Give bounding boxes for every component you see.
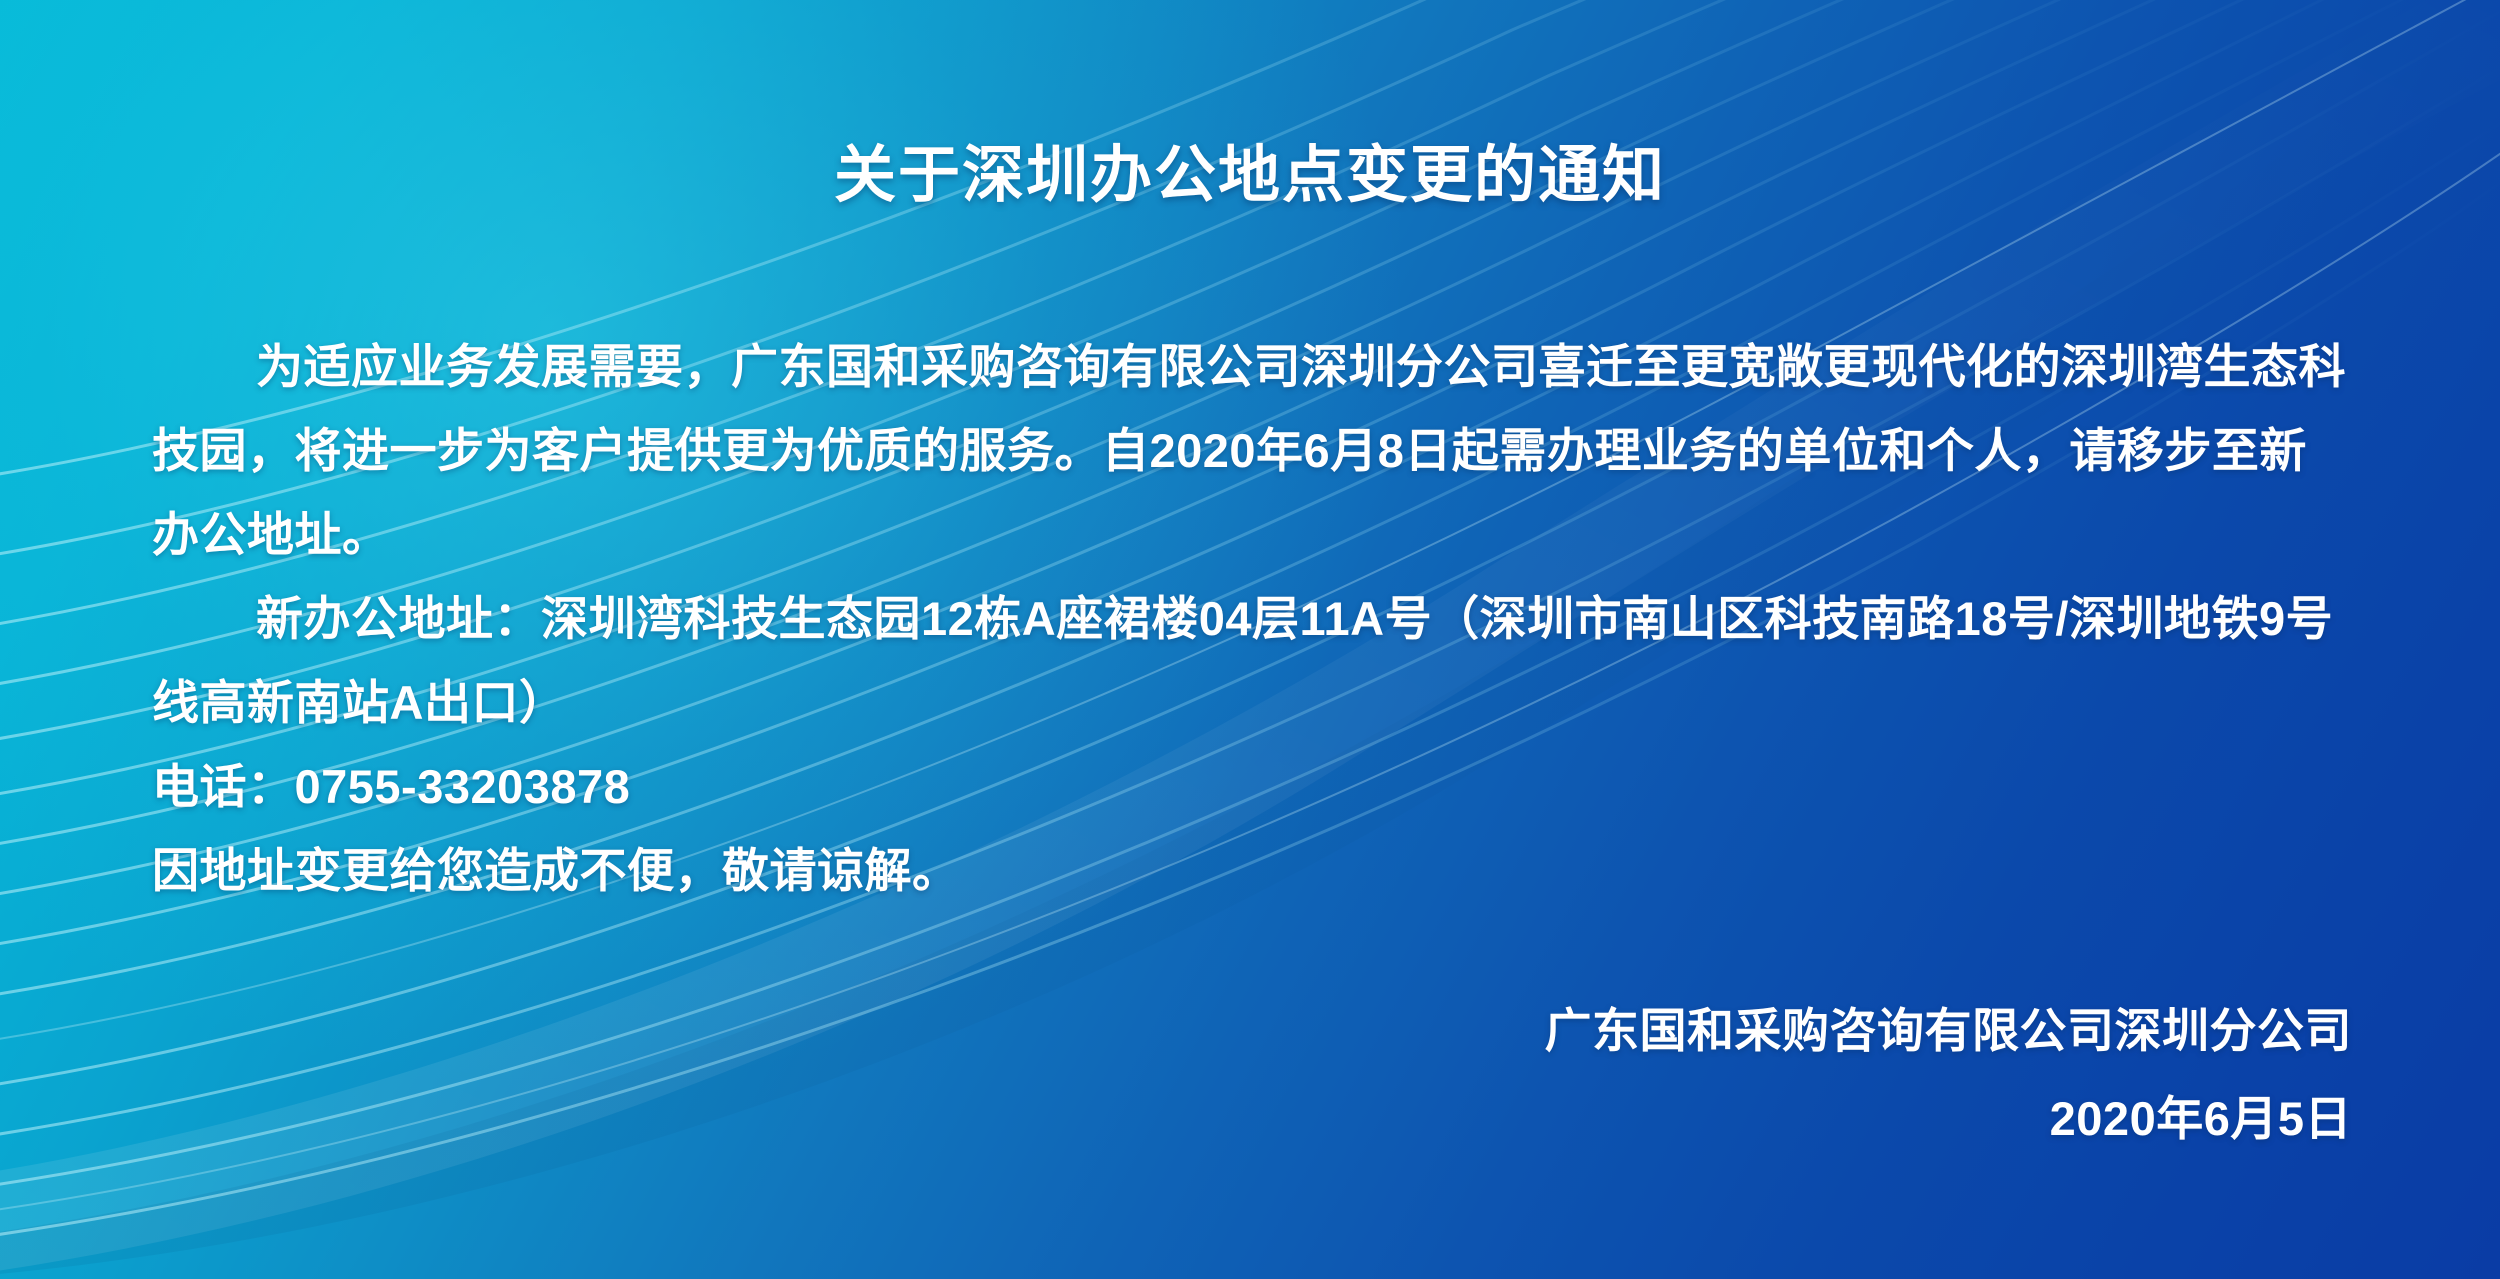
signature-organization: 广东国和采购咨询有限公司深圳分公司	[1545, 987, 2353, 1075]
paragraph-intro: 为适应业务发展需要，广东国和采购咨询有限公司深圳分公司喜迁至更宽敞更现代化的深圳…	[152, 325, 2352, 577]
notice-body: 为适应业务发展需要，广东国和采购咨询有限公司深圳分公司喜迁至更宽敞更现代化的深圳…	[152, 325, 2352, 913]
paragraph-new-address: 新办公地址：深圳湾科技生态园12栋A座裙楼04层11A号（深圳市南山区科技南路1…	[152, 577, 2352, 745]
paragraph-apology: 因地址变更给您造成不便，敬请谅解。	[152, 829, 2352, 913]
paragraph-phone: 电话：0755-33203878	[152, 745, 2352, 829]
notice-banner: 关于深圳办公地点变更的通知 为适应业务发展需要，广东国和采购咨询有限公司深圳分公…	[0, 0, 2500, 1279]
page-title: 关于深圳办公地点变更的通知	[0, 124, 2500, 214]
notice-content: 关于深圳办公地点变更的通知 为适应业务发展需要，广东国和采购咨询有限公司深圳分公…	[0, 0, 2500, 1279]
signature-block: 广东国和采购咨询有限公司深圳分公司 2020年6月5日	[1545, 987, 2353, 1163]
signature-date: 2020年6月5日	[1545, 1075, 2353, 1163]
